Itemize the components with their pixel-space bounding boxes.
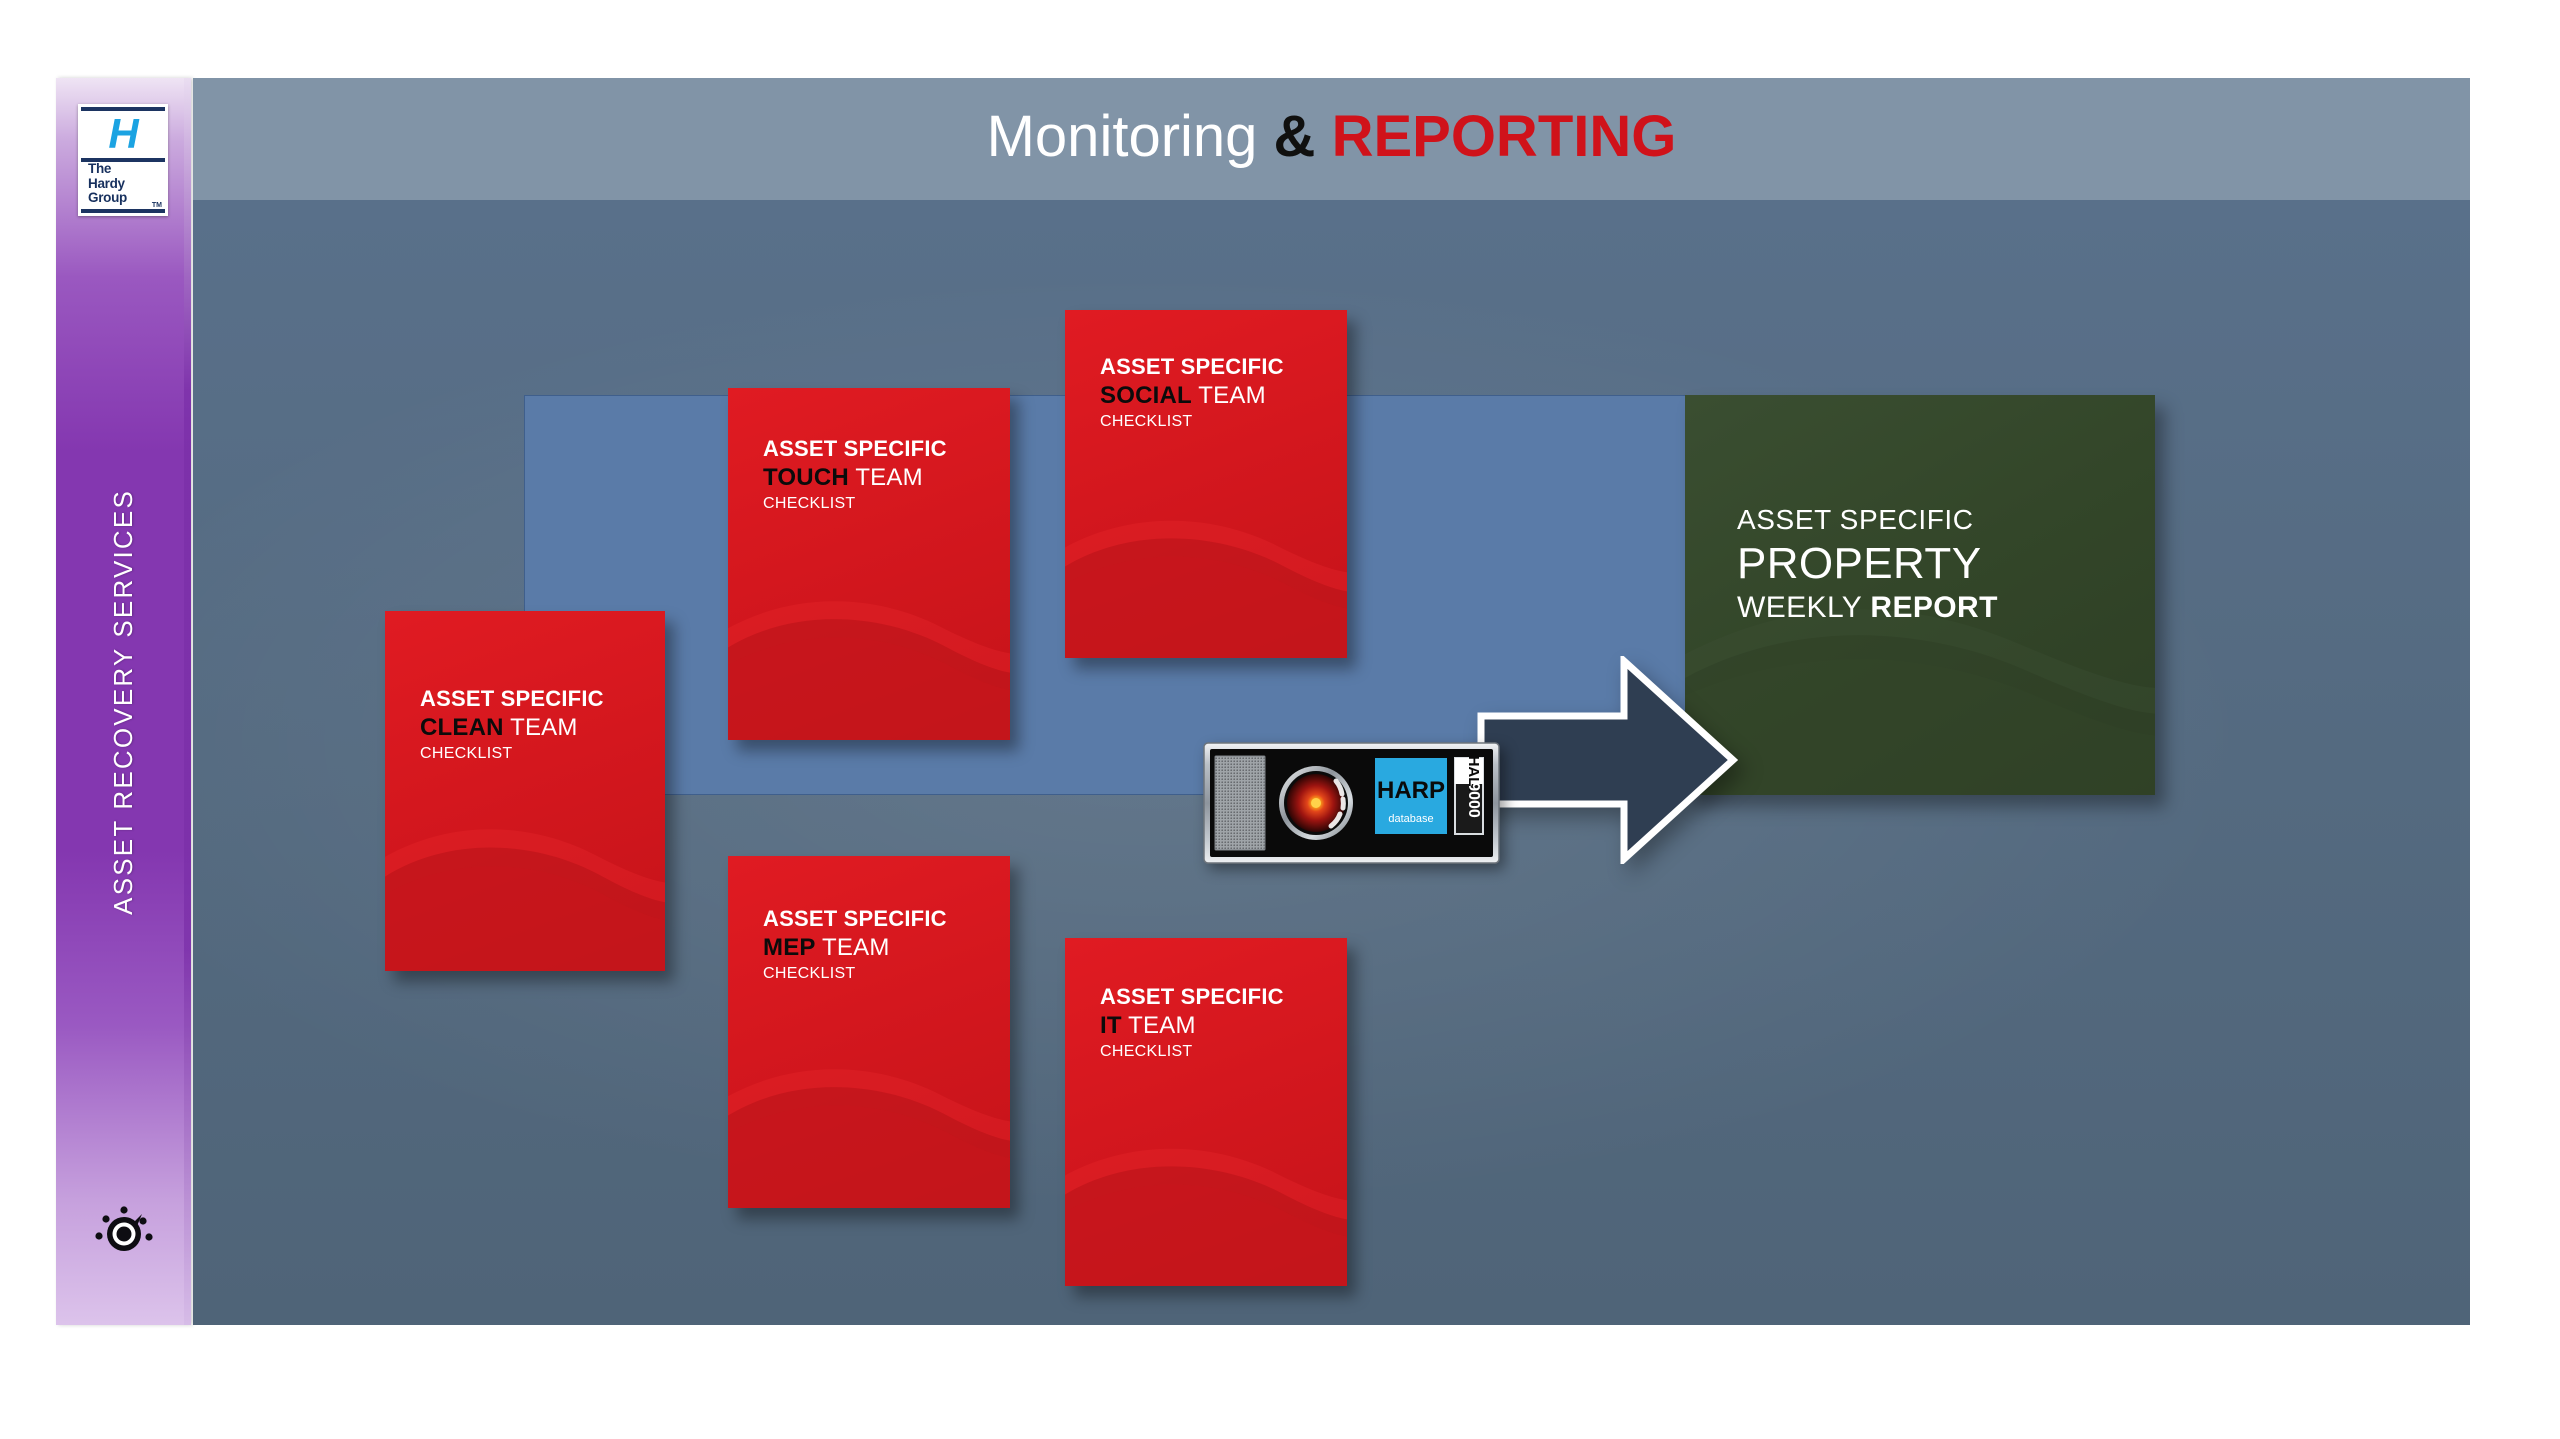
harp-sub-label: database	[1388, 813, 1433, 825]
weekly-report-panel[interactable]: ASSET SPECIFIC PROPERTY WEEKLY REPORT	[1685, 395, 2155, 795]
card-line-3: CHECKLIST	[1100, 412, 1339, 432]
harp-brand-panel: HARP database	[1375, 758, 1447, 834]
card-team-name: MEP	[763, 934, 816, 961]
harp-database-server[interactable]: HARP database HAL 9000 HAL	[1203, 742, 1500, 864]
svg-text:HAL: HAL	[1465, 756, 1482, 787]
card-line-3: CHECKLIST	[1100, 1042, 1339, 1062]
report-line-3-normal: WEEKLY	[1737, 591, 1870, 624]
card-team-name: SOCIAL	[1100, 382, 1192, 409]
card-line-1: ASSET SPECIFIC	[763, 906, 1002, 932]
card-text-block: ASSET SPECIFIC MEP TEAM CHECKLIST	[728, 856, 1002, 984]
page-title-ampersand: &	[1274, 104, 1316, 169]
card-line-3: CHECKLIST	[763, 494, 1002, 514]
sidebar-vertical-title-text: ASSET RECOVERY SERVICES	[108, 489, 139, 915]
card-line-3: CHECKLIST	[763, 964, 1002, 984]
card-wave-decoration	[385, 784, 665, 971]
report-line-3: WEEKLY REPORT	[1737, 590, 2139, 626]
sidebar-vertical-title: ASSET RECOVERY SERVICES	[56, 78, 191, 1325]
target-eye-icon	[93, 1201, 155, 1263]
server-grille	[1215, 756, 1265, 850]
card-team-suffix: TEAM	[504, 714, 578, 741]
slide-main-panel: Monitoring & REPORTING ASSET SPECIFIC PR…	[193, 78, 2470, 1325]
card-line-2: TOUCH TEAM	[763, 463, 1002, 492]
checklist-card-clean[interactable]: ASSET SPECIFIC CLEAN TEAM CHECKLIST	[385, 611, 665, 971]
card-team-name: CLEAN	[420, 714, 504, 741]
hal-eye-lens	[1279, 766, 1353, 840]
card-text-block: ASSET SPECIFIC SOCIAL TEAM CHECKLIST	[1065, 310, 1339, 432]
card-team-suffix: TEAM	[816, 934, 890, 961]
card-wave-decoration	[728, 557, 1010, 740]
card-line-1: ASSET SPECIFIC	[763, 436, 1002, 462]
card-team-suffix: TEAM	[1122, 1012, 1196, 1039]
card-team-suffix: TEAM	[1192, 382, 1266, 409]
card-line-2: CLEAN TEAM	[420, 713, 657, 742]
checklist-card-mep[interactable]: ASSET SPECIFIC MEP TEAM CHECKLIST	[728, 856, 1010, 1208]
card-line-2: IT TEAM	[1100, 1011, 1339, 1040]
report-line-3-bold: REPORT	[1870, 591, 1997, 624]
report-line-2: PROPERTY	[1737, 539, 2139, 589]
card-team-suffix: TEAM	[849, 464, 923, 491]
report-text-block: ASSET SPECIFIC PROPERTY WEEKLY REPORT	[1737, 503, 2139, 626]
card-line-1: ASSET SPECIFIC	[1100, 354, 1339, 380]
card-line-1: ASSET SPECIFIC	[1100, 984, 1339, 1010]
page-title: Monitoring & REPORTING	[193, 106, 2470, 168]
left-sidebar: H The Hardy Group TM ASSET RECOVERY SERV…	[56, 78, 191, 1325]
page-title-part2: REPORTING	[1332, 104, 1677, 169]
process-flow-arrow	[1476, 656, 1738, 864]
checklist-card-touch[interactable]: ASSET SPECIFIC TOUCH TEAM CHECKLIST	[728, 388, 1010, 740]
svg-text:9000: 9000	[1465, 782, 1482, 818]
card-line-2: MEP TEAM	[763, 933, 1002, 962]
card-wave-decoration	[1065, 477, 1347, 658]
slide-canvas: H The Hardy Group TM ASSET RECOVERY SERV…	[56, 78, 2470, 1325]
harp-brand-label: HARP	[1377, 777, 1445, 804]
card-text-block: ASSET SPECIFIC CLEAN TEAM CHECKLIST	[385, 611, 657, 764]
report-line-1: ASSET SPECIFIC	[1737, 503, 2139, 537]
checklist-card-it[interactable]: ASSET SPECIFIC IT TEAM CHECKLIST	[1065, 938, 1347, 1286]
card-line-1: ASSET SPECIFIC	[420, 686, 657, 712]
checklist-card-social[interactable]: ASSET SPECIFIC SOCIAL TEAM CHECKLIST	[1065, 310, 1347, 658]
card-wave-decoration	[728, 1025, 1010, 1208]
page-title-part1: Monitoring	[987, 104, 1258, 169]
card-line-2: SOCIAL TEAM	[1100, 381, 1339, 410]
card-team-name: IT	[1100, 1012, 1122, 1039]
card-wave-decoration	[1065, 1105, 1347, 1286]
card-text-block: ASSET SPECIFIC IT TEAM CHECKLIST	[1065, 938, 1339, 1062]
card-team-name: TOUCH	[763, 464, 849, 491]
card-line-3: CHECKLIST	[420, 744, 657, 764]
card-text-block: ASSET SPECIFIC TOUCH TEAM CHECKLIST	[728, 388, 1002, 514]
